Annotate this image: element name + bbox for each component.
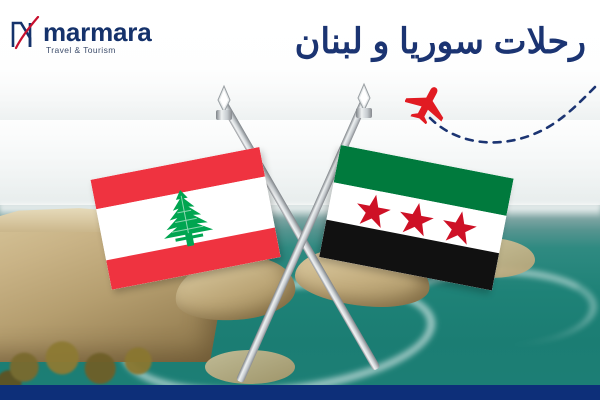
footer-bar (0, 385, 600, 400)
crossed-flagpoles (0, 0, 600, 400)
promo-poster: marmara Travel & Tourism رحلات سوريا و ل… (0, 0, 600, 400)
